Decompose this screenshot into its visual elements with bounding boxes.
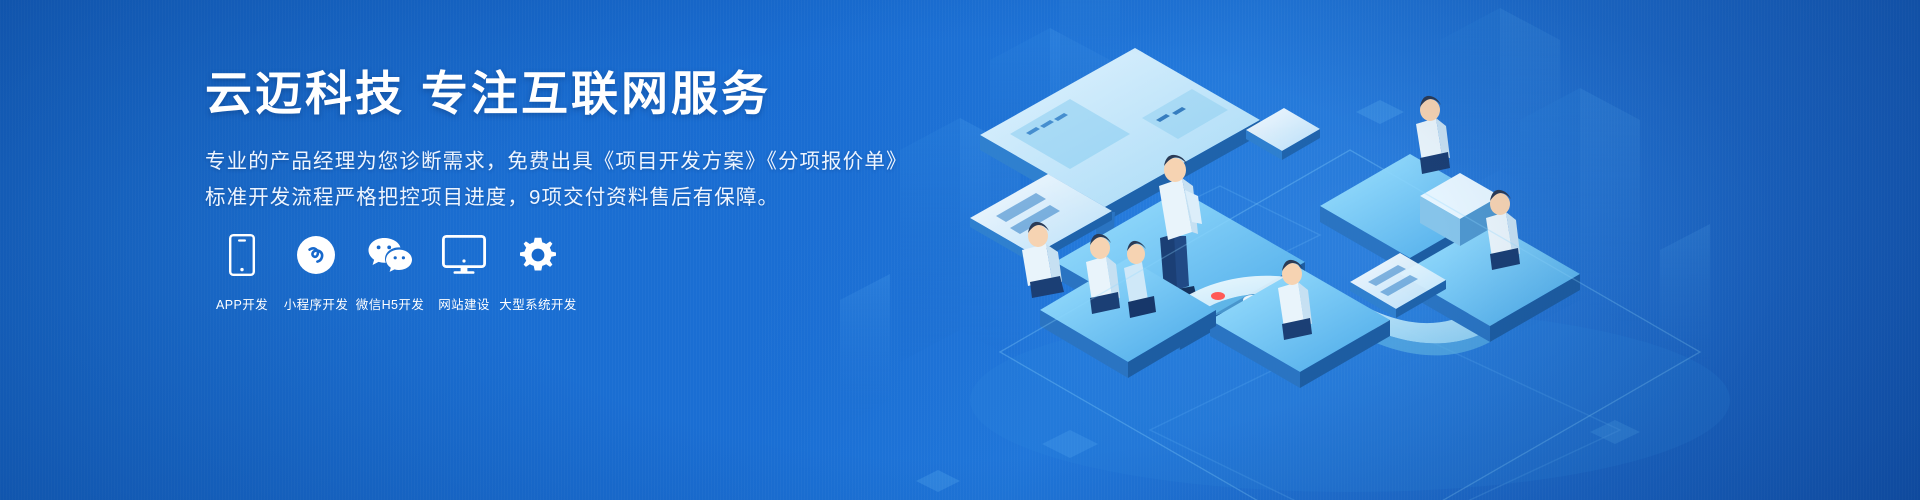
service-label: 网站建设 <box>438 294 490 313</box>
gear-icon <box>517 232 559 278</box>
service-list: APP开发 小程序开发 微信 <box>205 232 575 313</box>
subtitle-line-1: 专业的产品经理为您诊断需求，免费出具《项目开发方案》《分项报价单》 <box>205 144 905 180</box>
service-item-wechat-h5[interactable]: 微信H5开发 <box>353 232 427 313</box>
service-item-large-system[interactable]: 大型系统开发 <box>501 232 575 313</box>
person-lower-right <box>1278 260 1312 340</box>
service-item-website[interactable]: 网站建设 <box>427 232 501 313</box>
mobile-phone-icon <box>229 232 255 278</box>
service-label: 小程序开发 <box>284 294 349 313</box>
service-label: APP开发 <box>216 294 268 313</box>
service-label: 大型系统开发 <box>499 294 576 313</box>
monitor-icon <box>442 232 486 278</box>
hero-subtitle: 专业的产品经理为您诊断需求，免费出具《项目开发方案》《分项报价单》 标准开发流程… <box>205 144 905 216</box>
mini-program-icon <box>296 232 336 278</box>
hero-copy: 云迈科技 专注互联网服务 专业的产品经理为您诊断需求，免费出具《项目开发方案》《… <box>205 66 905 216</box>
hero-banner: 云迈科技 专注互联网服务 专业的产品经理为您诊断需求，免费出具《项目开发方案》《… <box>0 0 1920 500</box>
floating-card-small <box>1246 108 1320 160</box>
page-title: 云迈科技 专注互联网服务 <box>205 66 905 122</box>
service-item-app[interactable]: APP开发 <box>205 232 279 313</box>
wechat-icon <box>367 232 413 278</box>
subtitle-line-2: 标准开发流程严格把控项目进度，9项交付资料售后有保障。 <box>205 180 905 216</box>
person-mid-right <box>1486 190 1520 270</box>
person-upper-right <box>1416 96 1450 174</box>
service-item-miniprogram[interactable]: 小程序开发 <box>279 232 353 313</box>
service-label: 微信H5开发 <box>356 294 424 313</box>
isometric-illustration <box>880 0 1920 500</box>
